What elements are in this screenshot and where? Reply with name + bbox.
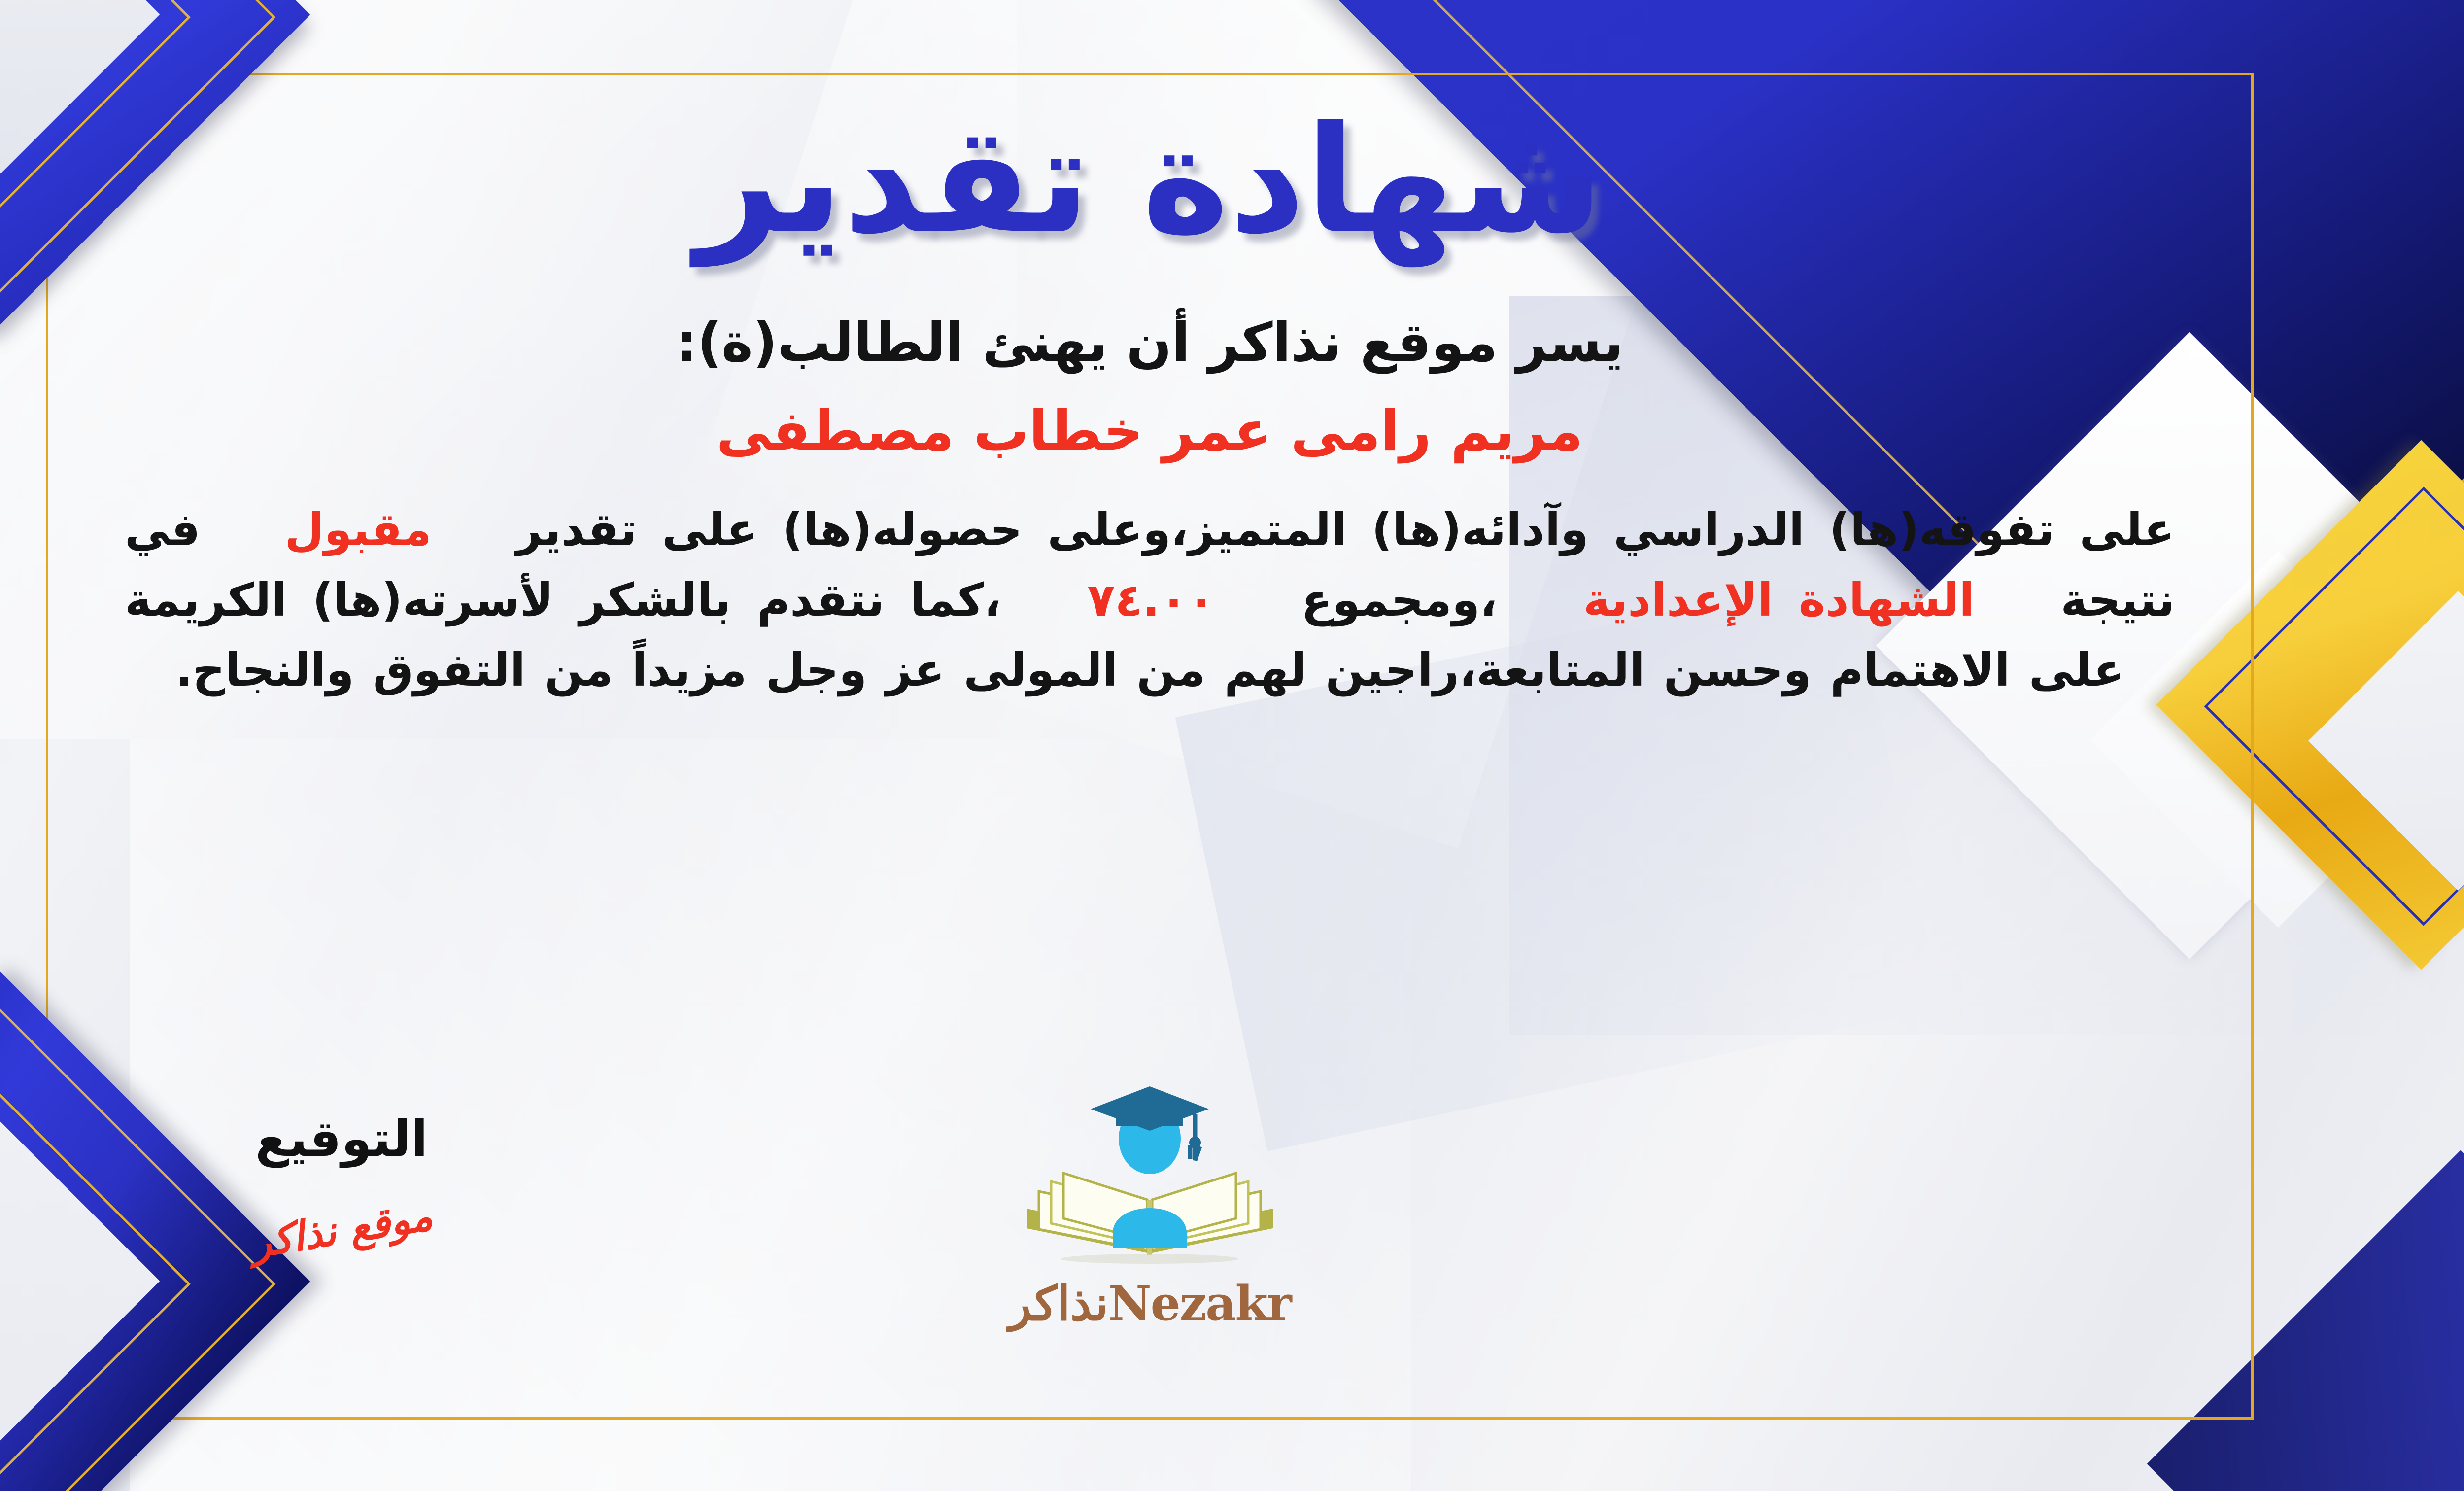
right-edge-gold-rule — [2409, 483, 2411, 927]
frame-rule-left — [46, 73, 48, 1420]
citation-part-1: على تفوقه(ها) الدراسي وآدائه(ها) المتميز… — [516, 503, 2175, 556]
frame-rule-right — [2251, 73, 2254, 1420]
frame-rule-bottom — [46, 1417, 2254, 1420]
exam-name: الشهادة الإعدادية — [1583, 574, 1975, 626]
logo-latin: Nezakr — [1108, 1276, 1291, 1331]
citation-paragraph: على تفوقه(ها) الدراسي وآدائه(ها) المتميز… — [125, 495, 2175, 706]
brand-logo: Nezakrنذاكر — [962, 1085, 1337, 1331]
footer-row: التوقيع موقع نذاكر — [80, 1080, 2219, 1396]
signature-mark: موقع نذاكر — [247, 1192, 435, 1268]
frame-rule-top — [46, 73, 2254, 75]
right-edge-gold-chevron-inner-line — [2204, 487, 2464, 926]
signature-label: التوقيع — [154, 1110, 529, 1168]
signature-block: التوقيع موقع نذاكر — [154, 1110, 529, 1253]
grade-value: مقبول — [285, 503, 432, 556]
greeting-line: يسر موقع نذاكر أن يهنئ الطالب(ة): — [80, 312, 2219, 374]
logo-arabic: نذاكر — [1008, 1276, 1108, 1331]
student-name: مريم رامى عمر خطاب مصطفى — [80, 399, 2219, 463]
certificate-canvas: شهادة تقدير يسر موقع نذاكر أن يهنئ الطال… — [0, 0, 2464, 1491]
right-edge-gold-chevron-notch — [2308, 591, 2464, 891]
logo-wordmark: Nezakrنذاكر — [962, 1276, 1337, 1331]
certificate-content: شهادة تقدير يسر موقع نذاكر أن يهنئ الطال… — [80, 84, 2219, 1410]
citation-part-3: ،ومجموع — [1301, 574, 1497, 626]
graduate-book-logo-icon — [1012, 1085, 1288, 1283]
certificate-title: شهادة تقدير — [80, 103, 2219, 258]
total-score: ٧٤.٠٠ — [1087, 574, 1215, 626]
